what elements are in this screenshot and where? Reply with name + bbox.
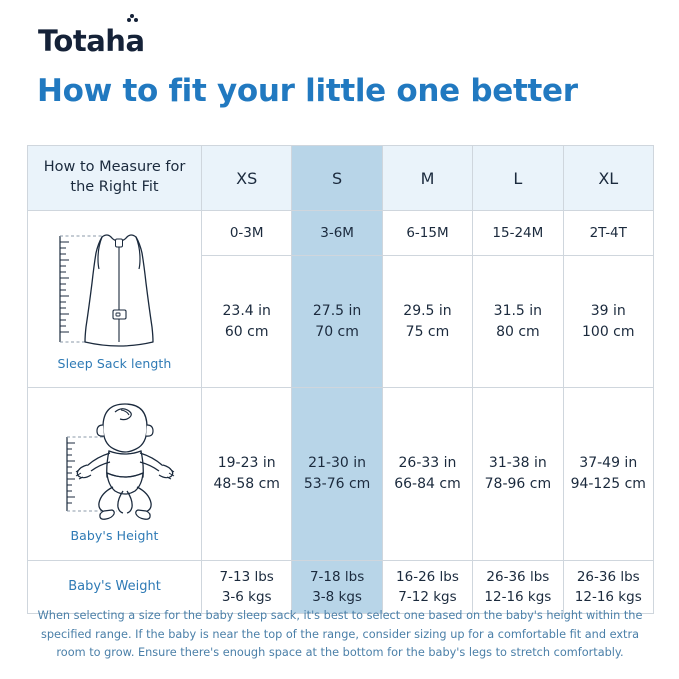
size-header-xs[interactable]: XS xyxy=(202,146,292,211)
length-s-in: 27.5 in xyxy=(292,301,381,322)
size-header-m[interactable]: M xyxy=(382,146,472,211)
length-m-cm: 75 cm xyxy=(383,322,472,343)
table-row-age: Sleep Sack length 0-3M 3-6M 6-15M 15-24M… xyxy=(28,211,654,256)
height-l-in: 31-38 in xyxy=(473,453,562,474)
weight-m: 16-26 lbs 7-12 kgs xyxy=(382,561,472,614)
weight-s: 7-18 lbs 3-8 kgs xyxy=(292,561,382,614)
height-s: 21-30 in 53-76 cm xyxy=(292,388,382,561)
length-xl-cm: 100 cm xyxy=(564,322,653,343)
length-l-in: 31.5 in xyxy=(473,301,562,322)
weight-m-lbs: 16-26 lbs xyxy=(383,567,472,587)
height-s-cm: 53-76 cm xyxy=(292,474,381,495)
weight-s-kgs: 3-8 kgs xyxy=(292,587,381,607)
brand-name-part1: Totah xyxy=(38,24,125,58)
size-header-s[interactable]: S xyxy=(292,146,382,211)
weight-xl-kgs: 12-16 kgs xyxy=(564,587,653,607)
size-header-xl[interactable]: XL xyxy=(563,146,653,211)
height-xl-cm: 94-125 cm xyxy=(564,474,653,495)
age-xs: 0-3M xyxy=(202,211,292,256)
brand-logo: Totaha xyxy=(38,27,145,56)
length-s: 27.5 in 70 cm xyxy=(292,256,382,388)
sizing-note: When selecting a size for the baby sleep… xyxy=(26,607,654,663)
height-xl-in: 37-49 in xyxy=(564,453,653,474)
length-s-cm: 70 cm xyxy=(292,322,381,343)
brand-umlaut-accent: a xyxy=(125,27,144,56)
age-xl: 2T-4T xyxy=(563,211,653,256)
length-xs: 23.4 in 60 cm xyxy=(202,256,292,388)
weight-xs: 7-13 lbs 3-6 kgs xyxy=(202,561,292,614)
weight-xs-lbs: 7-13 lbs xyxy=(202,567,291,587)
height-xl: 37-49 in 94-125 cm xyxy=(563,388,653,561)
measure-column-header: How to Measure for the Right Fit xyxy=(28,146,202,211)
age-m: 6-15M xyxy=(382,211,472,256)
sleep-sack-illustration xyxy=(40,224,190,354)
length-m-in: 29.5 in xyxy=(383,301,472,322)
weight-xs-kgs: 3-6 kgs xyxy=(202,587,291,607)
weight-l-lbs: 26-36 lbs xyxy=(473,567,562,587)
height-s-in: 21-30 in xyxy=(292,453,381,474)
age-s: 3-6M xyxy=(292,211,382,256)
table-row-baby-height: Baby's Height 19-23 in 48-58 cm 21-30 in… xyxy=(28,388,654,561)
length-l-cm: 80 cm xyxy=(473,322,562,343)
length-xl: 39 in 100 cm xyxy=(563,256,653,388)
height-l-cm: 78-96 cm xyxy=(473,474,562,495)
size-header-l[interactable]: L xyxy=(473,146,563,211)
baby-height-label: Baby's Height xyxy=(70,527,158,546)
height-m-in: 26-33 in xyxy=(383,453,472,474)
brand-name-part2: a xyxy=(125,24,144,58)
height-xs-cm: 48-58 cm xyxy=(202,474,291,495)
age-l: 15-24M xyxy=(473,211,563,256)
length-xs-cm: 60 cm xyxy=(202,322,291,343)
baby-illustration-cell: Baby's Height xyxy=(28,388,202,561)
weight-l-kgs: 12-16 kgs xyxy=(473,587,562,607)
weight-m-kgs: 7-12 kgs xyxy=(383,587,472,607)
size-chart-table: How to Measure for the Right Fit XS S M … xyxy=(27,145,654,614)
sleep-sack-illustration-cell: Sleep Sack length xyxy=(28,211,202,388)
length-l: 31.5 in 80 cm xyxy=(473,256,563,388)
table-header-row: How to Measure for the Right Fit XS S M … xyxy=(28,146,654,211)
baby-weight-label: Baby's Weight xyxy=(28,561,202,614)
height-m-cm: 66-84 cm xyxy=(383,474,472,495)
page-title: How to fit your little one better xyxy=(37,73,578,109)
length-xs-in: 23.4 in xyxy=(202,301,291,322)
weight-s-lbs: 7-18 lbs xyxy=(292,567,381,587)
height-l: 31-38 in 78-96 cm xyxy=(473,388,563,561)
table-row-baby-weight: Baby's Weight 7-13 lbs 3-6 kgs 7-18 lbs … xyxy=(28,561,654,614)
sleep-sack-length-label: Sleep Sack length xyxy=(58,356,172,371)
baby-illustration xyxy=(37,399,192,525)
height-m: 26-33 in 66-84 cm xyxy=(382,388,472,561)
length-m: 29.5 in 75 cm xyxy=(382,256,472,388)
height-xs: 19-23 in 48-58 cm xyxy=(202,388,292,561)
weight-l: 26-36 lbs 12-16 kgs xyxy=(473,561,563,614)
weight-xl: 26-36 lbs 12-16 kgs xyxy=(563,561,653,614)
height-xs-in: 19-23 in xyxy=(202,453,291,474)
length-xl-in: 39 in xyxy=(564,301,653,322)
weight-xl-lbs: 26-36 lbs xyxy=(564,567,653,587)
size-chart-page: Totaha How to fit your little one better… xyxy=(0,0,679,679)
